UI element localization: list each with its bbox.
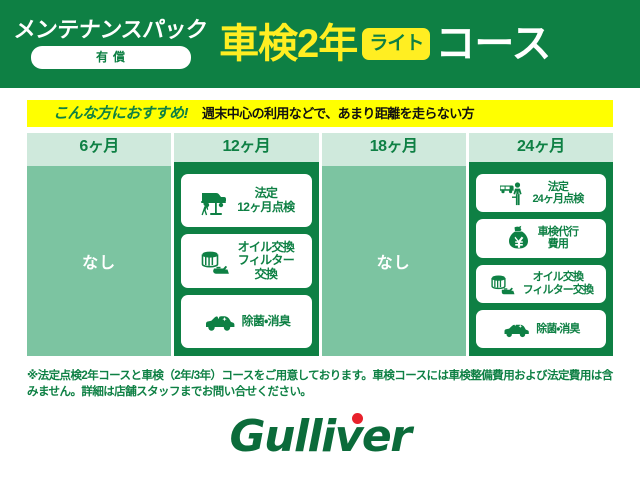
- service-label: オイル交換 フィルター 交換: [238, 241, 295, 281]
- service-card-oil-filter-change-12: オイル交換 フィルター 交換: [181, 234, 311, 287]
- service-label: オイル交換 フィルター交換: [523, 271, 593, 296]
- service-card-sanitize-deodorize-12: 除菌・消臭: [181, 295, 311, 348]
- recommendation-text: 週末中心の利用などで、あまり距離を走らない方: [202, 107, 474, 120]
- no-service-label-18-months: なし: [377, 249, 411, 273]
- service-label: 法定 12ヶ月点検: [237, 187, 294, 214]
- footnote-disclaimer: ※法定点検2年コースと車検（2年/3年）コースをご用意しております。車検コースに…: [27, 368, 619, 401]
- column-12-months: 12ヶ月: [174, 133, 318, 356]
- service-label: 車検代行 費用: [538, 226, 578, 251]
- column-18-months: 18ヶ月 なし: [322, 133, 466, 356]
- car-sanitize-icon: [203, 306, 237, 336]
- maintenance-pack-infographic: メンテナンスパック 有償 車検2年 ライト コース こんな方におすすめ! 週末中…: [0, 0, 640, 480]
- column-header-24-months: 24ヶ月: [469, 133, 613, 166]
- column-body-12-months: 法定 12ヶ月点検: [174, 166, 318, 356]
- service-card-legal-24-month-inspection: 法定 24ヶ月点検: [476, 174, 606, 212]
- course-main-title: 車検2年: [219, 24, 357, 64]
- column-24-months: 24ヶ月: [469, 133, 613, 356]
- oil-filter-change-icon: [489, 271, 518, 297]
- column-header-12-months: 12ヶ月: [174, 133, 318, 166]
- gulliver-logo-dot: [352, 413, 363, 424]
- column-6-months: 6ヶ月 なし: [27, 133, 171, 356]
- column-header-18-months: 18ヶ月: [322, 133, 466, 166]
- service-card-oil-filter-change-24: オイル交換 フィルター交換: [476, 265, 606, 303]
- car-lift-inspection-icon: [198, 186, 232, 216]
- header-right-group: 車検2年 ライト コース: [219, 24, 632, 64]
- service-label: 法定 24ヶ月点検: [532, 181, 583, 206]
- money-bag-yen-icon: [504, 225, 533, 251]
- light-plan-badge: ライト: [362, 28, 430, 60]
- header-banner: メンテナンスパック 有償 車検2年 ライト コース: [0, 0, 640, 88]
- service-label: 除菌・消臭: [536, 323, 579, 335]
- gulliver-logo: Gulliver: [230, 415, 411, 459]
- recommendation-label: こんな方におすすめ!: [53, 106, 188, 121]
- course-suffix-title: コース: [435, 24, 550, 64]
- column-body-24-months: 法定 24ヶ月点検 車検代行 費用: [469, 166, 613, 356]
- service-card-legal-12-month-inspection: 法定 12ヶ月点検: [181, 174, 311, 227]
- service-card-inspection-agency-fee: 車検代行 費用: [476, 219, 606, 257]
- recommendation-bar: こんな方におすすめ! 週末中心の利用などで、あまり距離を走らない方: [27, 100, 613, 127]
- header-left-group: メンテナンスパック 有償: [14, 19, 207, 69]
- pack-title: メンテナンスパック: [13, 19, 208, 41]
- car-sanitize-icon: [502, 316, 531, 342]
- column-header-6-months: 6ヶ月: [27, 133, 171, 166]
- column-body-6-months: なし: [27, 166, 171, 356]
- service-card-sanitize-deodorize-24: 除菌・消臭: [476, 310, 606, 348]
- oil-filter-change-icon: [199, 246, 233, 276]
- car-inspector-icon: [498, 180, 527, 206]
- no-service-label-6-months: なし: [82, 249, 116, 273]
- brand-logo-area: Gulliver: [0, 415, 640, 459]
- gulliver-logo-text: Gulliver: [230, 411, 411, 462]
- column-body-18-months: なし: [322, 166, 466, 356]
- paid-badge: 有償: [31, 46, 191, 69]
- maintenance-schedule-table: 6ヶ月 なし 12ヶ月: [27, 133, 613, 356]
- service-label: 除菌・消臭: [242, 315, 291, 328]
